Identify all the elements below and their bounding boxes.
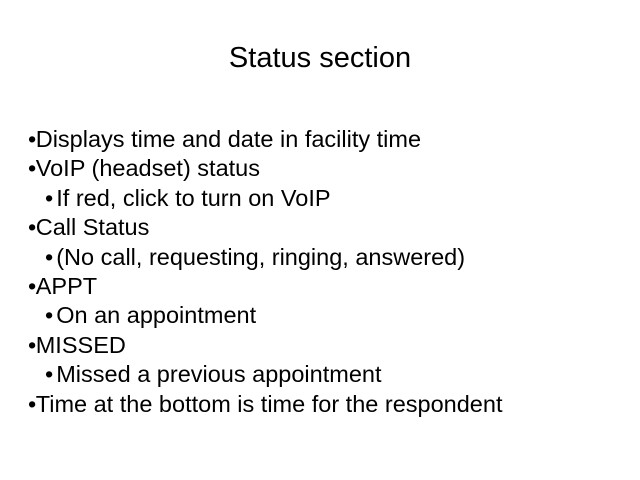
list-item-label: VoIP (headset) status: [36, 155, 260, 181]
list-item: •Missed a previous appointment: [28, 360, 628, 389]
bullet-icon: •: [45, 361, 56, 387]
list-item-label: Displays time and date in facility time: [36, 126, 421, 152]
list-item-label: MISSED: [36, 332, 126, 358]
list-item: •On an appointment: [28, 301, 628, 330]
bullet-icon: •: [28, 273, 36, 299]
list-item: •Displays time and date in facility time: [28, 125, 628, 154]
list-item-label: Call Status: [36, 214, 150, 240]
list-item-label: APPT: [36, 273, 97, 299]
list-item: •MISSED: [28, 331, 628, 360]
list-item-label: (No call, requesting, ringing, answered): [56, 244, 465, 270]
list-item: •(No call, requesting, ringing, answered…: [28, 243, 628, 272]
bullet-icon: •: [45, 302, 56, 328]
bullet-icon: •: [28, 155, 36, 181]
list-item: •Call Status: [28, 213, 628, 242]
list-item-label: Missed a previous appointment: [56, 361, 381, 387]
list-item-label: Time at the bottom is time for the respo…: [36, 391, 503, 417]
list-item-label: On an appointment: [56, 302, 256, 328]
list-item: •If red, click to turn on VoIP: [28, 184, 628, 213]
page-title: Status section: [0, 41, 640, 75]
bullet-list: •Displays time and date in facility time…: [28, 125, 628, 419]
list-item: •Time at the bottom is time for the resp…: [28, 390, 628, 419]
bullet-icon: •: [28, 126, 36, 152]
list-item: •VoIP (headset) status: [28, 154, 628, 183]
bullet-icon: •: [28, 391, 36, 417]
bullet-icon: •: [28, 332, 36, 358]
list-item-label: If red, click to turn on VoIP: [56, 185, 330, 211]
slide-canvas: Status section •Displays time and date i…: [0, 0, 640, 480]
list-item: •APPT: [28, 272, 628, 301]
bullet-icon: •: [28, 214, 36, 240]
bullet-icon: •: [45, 244, 56, 270]
bullet-icon: •: [45, 185, 56, 211]
